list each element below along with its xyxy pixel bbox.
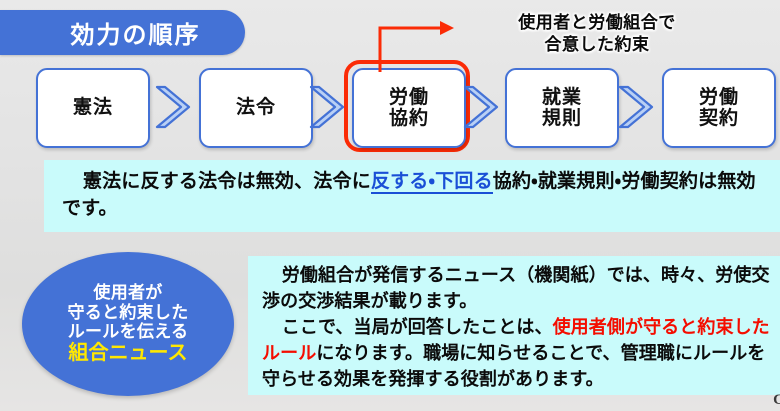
desc-para2-highlight-1: 使用者側が守ると約束: [553, 317, 734, 337]
desc-para2-part-1: ここで、当局が回答したことは、: [282, 317, 553, 337]
flow-box-roudoukyouyaku: 労働協約: [352, 68, 466, 148]
desc-para1-part-1: 労働組合が発信するニュース（機関紙）では、時々、労: [282, 265, 734, 285]
chevron-right-icon: [305, 84, 347, 130]
callout-line-1: 使用者と労働組合で: [452, 12, 742, 34]
flow-box-hourei: 法令: [199, 68, 313, 148]
section-title-pill: 効力の順序: [0, 10, 245, 55]
union-news-description-text: 労働組合が発信するニュース（機関紙）では、時々、労使交渉の交渉結果が載ります。 …: [262, 263, 772, 393]
union-news-badge: 使用者が 守ると約束した ルールを伝える 組合ニュース: [22, 252, 234, 396]
flow-box-label: 労働契約: [699, 87, 739, 130]
flow-box-label: 憲法: [73, 97, 113, 118]
chevron-right-icon: [151, 84, 193, 130]
flow-box-label: 就業規則: [542, 87, 582, 130]
badge-line-3: ルールを伝える: [68, 322, 189, 342]
chevron-right-icon: [614, 84, 656, 130]
union-news-description-panel: 労働組合が発信するニュース（機関紙）では、時々、労使交渉の交渉結果が載ります。 …: [248, 256, 780, 395]
flow-box-roudoukeiyaku: 労働契約: [662, 68, 776, 148]
desc-para2-part-2: になります。職場に知らせることで、管理職に: [316, 343, 693, 363]
rule-text-highlight: 反する・下回る: [371, 171, 493, 194]
slide-canvas: 効力の順序 憲法 法令 労働協約 就業規則 労働契約: [0, 0, 780, 411]
flow-box-shuugyoukisoku: 就業規則: [505, 68, 619, 148]
rule-text-part-2: 協約・就業規則・: [493, 171, 622, 192]
badge-line-2: 守ると約束した: [67, 303, 188, 323]
rule-summary-text: 憲法に反する法令は無効、法令に反する・下回る協約・就業規則・労働契約は無効です。: [62, 169, 762, 223]
page-corner-glyph: C: [773, 392, 780, 409]
callout-annotation: 使用者と労働組合で 合意した約束: [452, 12, 742, 56]
chevron-right-icon: [459, 84, 501, 130]
badge-line-1: 使用者が: [93, 283, 162, 303]
flow-box-kenpou: 憲法: [36, 68, 150, 148]
rule-text-part-1: 憲法に反する法令は無効、法令に: [83, 171, 371, 192]
section-title-text: 効力の順序: [45, 15, 201, 50]
flow-box-label: 労働協約: [389, 87, 429, 130]
rule-summary-panel: 憲法に反する法令は無効、法令に反する・下回る協約・就業規則・労働契約は無効です。: [44, 160, 780, 232]
badge-line-4: 組合ニュース: [69, 342, 188, 365]
callout-line-2: 合意した約束: [452, 34, 742, 56]
flow-box-label: 法令: [236, 97, 276, 118]
